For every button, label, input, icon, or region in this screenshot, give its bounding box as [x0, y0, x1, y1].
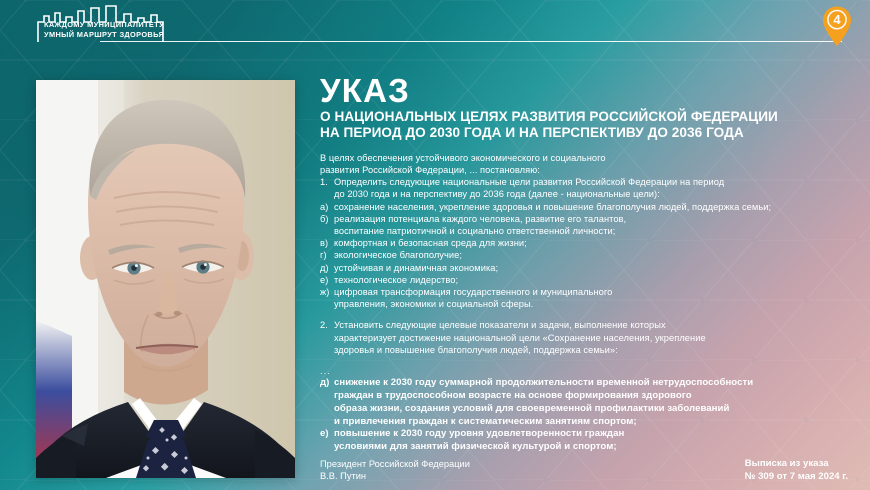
map-pin-number: 4 [820, 12, 854, 27]
ellipsis-marker: ... [320, 365, 848, 377]
slide-root: КАЖДОМУ МУНИЦИПАЛИТЕТУ УМНЫЙ МАРШРУТ ЗДО… [0, 0, 870, 490]
portrait-photo [36, 80, 295, 478]
highlighted-e-marker: е) [320, 428, 334, 441]
subitem-d-marker: д) [320, 262, 334, 274]
highlighted-subitem-d: д) снижение к 2030 году суммарной продол… [320, 377, 848, 428]
subitem-zh-line-2: управления, экономики и социальной сферы… [320, 298, 848, 310]
highlighted-d-line-4: и привлечения граждан к систематическим … [320, 416, 848, 429]
subitem-e: е) технологическое лидерство; [320, 274, 848, 286]
highlighted-subitem-e: е) повышение к 2030 году уровня удовлетв… [320, 428, 848, 454]
highlighted-d-line-1: снижение к 2030 году суммарной продолжит… [334, 377, 848, 390]
subitem-b: б) реализация потенциала каждого человек… [320, 213, 848, 225]
highlighted-d-marker: д) [320, 377, 334, 390]
subitem-g-marker: г) [320, 249, 334, 261]
decree-subtitle-line-1: О НАЦИОНАЛЬНЫХ ЦЕЛЯХ РАЗВИТИЯ РОССИЙСКОЙ… [320, 109, 848, 125]
subitem-e-marker: е) [320, 274, 334, 286]
subitem-b-marker: б) [320, 213, 334, 225]
highlighted-d-line-3: образа жизни, создания условий для своев… [320, 403, 848, 416]
subitem-v-line-1: комфортная и безопасная среда для жизни; [334, 237, 848, 249]
decree-document: УКАЗ О НАЦИОНАЛЬНЫХ ЦЕЛЯХ РАЗВИТИЯ РОССИ… [320, 74, 848, 484]
subitem-zh-marker: ж) [320, 286, 334, 298]
header-divider-line [100, 41, 842, 42]
logo-line-2: УМНЫЙ МАРШРУТ ЗДОРОВЬЯ [44, 30, 164, 40]
subitem-g: г) экологическое благополучие; [320, 249, 848, 261]
spacer-1 [320, 310, 848, 319]
item-1-marker: 1. [320, 176, 334, 188]
preamble-line-2: развития Российской Федерации, ... поста… [320, 164, 848, 176]
subitem-d-line-1: устойчивая и динамичная экономика; [334, 262, 848, 274]
subitem-v: в) комфортная и безопасная среда для жиз… [320, 237, 848, 249]
highlighted-d-line-2: граждан в трудоспособном возрасте на осн… [320, 390, 848, 403]
logo-line-1: КАЖДОМУ МУНИЦИПАЛИТЕТУ [44, 20, 164, 30]
item-1: 1. Определить следующие национальные цел… [320, 176, 848, 188]
subitem-v-marker: в) [320, 237, 334, 249]
decree-body: В целях обеспечения устойчивого экономич… [320, 152, 848, 454]
decree-title: УКАЗ [320, 74, 848, 108]
subitem-b-line-2: воспитание патриотичной и социально отве… [320, 225, 848, 237]
smart-health-route-logo: КАЖДОМУ МУНИЦИПАЛИТЕТУ УМНЫЙ МАРШРУТ ЗДО… [36, 4, 184, 44]
subitem-a-line-1: сохранение населения, укрепление здоровь… [334, 201, 848, 213]
subitem-b-line-1: реализация потенциала каждого человека, … [334, 213, 848, 225]
slide-header: КАЖДОМУ МУНИЦИПАЛИТЕТУ УМНЫЙ МАРШРУТ ЗДО… [0, 0, 870, 58]
signature-block: Президент Российской Федерации В.В. Пути… [320, 458, 470, 483]
extract-line-2: № 309 от 7 мая 2024 г. [745, 471, 848, 484]
item-2: 2. Установить следующие целевые показате… [320, 319, 848, 331]
map-pin-badge: 4 [820, 5, 854, 47]
subitem-d: д) устойчивая и динамичная экономика; [320, 262, 848, 274]
subitem-zh: ж) цифровая трансформация государственно… [320, 286, 848, 298]
preamble-line-1: В целях обеспечения устойчивого экономич… [320, 152, 848, 164]
item-1-line-2: до 2030 года и на перспективу до 2036 го… [320, 188, 848, 200]
subitem-a-marker: а) [320, 201, 334, 213]
extract-line-1: Выписка из указа [745, 458, 848, 471]
extract-block: Выписка из указа № 309 от 7 мая 2024 г. [745, 458, 848, 484]
subitem-a: а) сохранение населения, укрепление здор… [320, 201, 848, 213]
subitem-g-line-1: экологическое благополучие; [334, 249, 848, 261]
highlighted-e-line-2: условиями для занятий физической культур… [320, 441, 848, 454]
subitem-zh-line-1: цифровая трансформация государственного … [334, 286, 848, 298]
logo-text-block: КАЖДОМУ МУНИЦИПАЛИТЕТУ УМНЫЙ МАРШРУТ ЗДО… [44, 20, 164, 39]
item-2-marker: 2. [320, 319, 334, 331]
subitem-e-line-1: технологическое лидерство; [334, 274, 848, 286]
signature-name: В.В. Путин [320, 470, 470, 482]
item-2-line-2: характеризует достижение национальной це… [320, 332, 848, 344]
item-2-line-3: здоровья и повышение благополучия людей,… [320, 344, 848, 356]
item-1-line-1: Определить следующие национальные цели р… [334, 176, 848, 188]
highlighted-e-line-1: повышение к 2030 году уровня удовлетворе… [334, 428, 848, 441]
decree-footer: Президент Российской Федерации В.В. Пути… [320, 458, 848, 484]
spacer-2 [320, 356, 848, 365]
item-2-line-1: Установить следующие целевые показатели … [334, 319, 848, 331]
decree-subtitle-line-2: НА ПЕРИОД ДО 2030 ГОДА И НА ПЕРСПЕКТИВУ … [320, 125, 848, 141]
signature-role: Президент Российской Федерации [320, 458, 470, 470]
